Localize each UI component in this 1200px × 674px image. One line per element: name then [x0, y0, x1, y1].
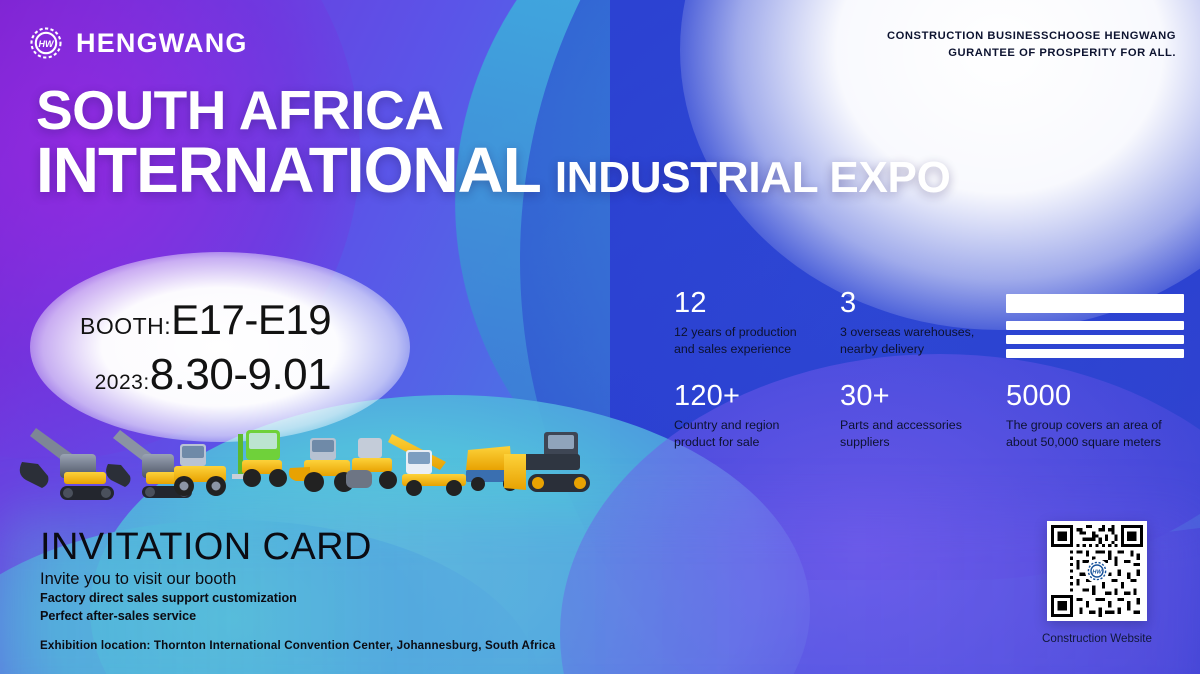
booth-date-row: 2023: 8.30-9.01 [80, 350, 331, 400]
stat-description: 12 years of production and sales experie… [674, 324, 832, 359]
invitation-point-1: Factory direct sales support customizati… [40, 590, 555, 608]
title-international: INTERNATIONAL [36, 138, 541, 202]
stat-desc-line-1: Country and region [674, 418, 779, 432]
title-line-2: INTERNATIONAL INDUSTRIAL EXPO [36, 138, 951, 202]
stat-item: 3 3 overseas warehouses, nearby delivery [840, 288, 1006, 359]
stat-desc-line-2: about 50,000 square meters [1006, 435, 1161, 449]
invitation-title: INVITATION CARD [40, 528, 555, 566]
four-horizontal-bars-icon [1006, 288, 1186, 359]
stat-description: 3 overseas warehouses, nearby delivery [840, 324, 998, 359]
stat-desc-line-1: Parts and accessories [840, 418, 962, 432]
stat-desc-line-2: product for sale [674, 435, 759, 449]
booth-number-row: BOOTH: E17-E19 [80, 296, 331, 344]
bar-thin [1006, 335, 1184, 344]
bar-thin [1006, 349, 1184, 358]
stat-number: 30+ [840, 381, 1006, 412]
hengwang-gear-logo-icon: HW [27, 24, 65, 62]
qr-code-icon[interactable]: HW [1047, 521, 1147, 621]
stat-number: 5000 [1006, 381, 1186, 412]
stat-number: 12 [674, 288, 840, 319]
invitation-block: INVITATION CARD Invite you to visit our … [40, 528, 555, 652]
tagline: CONSTRUCTION BUSINESSCHOOSE HENGWANG GUR… [887, 28, 1176, 63]
invitation-point-2: Perfect after-sales service [40, 608, 555, 626]
bar-thick [1006, 294, 1184, 313]
booth-label: BOOTH: [80, 313, 171, 340]
svg-text:HW: HW [1092, 570, 1102, 576]
stat-item: 12 12 years of production and sales expe… [674, 288, 840, 359]
stat-desc-line-1: 3 overseas warehouses, [840, 325, 974, 339]
qr-section[interactable]: HW Construction Website [1047, 521, 1147, 645]
stat-desc-line-2: nearby delivery [840, 342, 924, 356]
stat-desc-line-1: The group covers an area of [1006, 418, 1162, 432]
stat-item: 5000 The group covers an area of about 5… [1006, 381, 1186, 452]
brand-logo[interactable]: HW HENGWANG [27, 24, 248, 62]
stat-desc-line-2: suppliers [840, 435, 890, 449]
title-line-1: SOUTH AFRICA [36, 84, 951, 138]
stat-description: The group covers an area of about 50,000… [1006, 417, 1184, 452]
stat-item: 30+ Parts and accessories suppliers [840, 381, 1006, 452]
title-industrial-expo: INDUSTRIAL EXPO [555, 156, 951, 200]
stat-desc-line-2: and sales experience [674, 342, 791, 356]
booth-value: E17-E19 [171, 296, 331, 344]
invitation-subtitle: Invite you to visit our booth [40, 570, 555, 590]
stats-grid: 12 12 years of production and sales expe… [674, 288, 1186, 452]
exhibition-location: Exhibition location: Thornton Internatio… [40, 639, 555, 652]
stat-description: Parts and accessories suppliers [840, 417, 998, 452]
booth-year-label: 2023: [95, 371, 150, 395]
stat-item: 120+ Country and region product for sale [674, 381, 840, 452]
booth-info: BOOTH: E17-E19 2023: 8.30-9.01 [80, 296, 331, 400]
svg-text:HW: HW [39, 39, 55, 49]
stat-description: Country and region product for sale [674, 417, 832, 452]
construction-machinery-lineup-icon [14, 410, 614, 520]
expo-invitation-poster: HW HENGWANG CONSTRUCTION BUSINESSCHOOSE … [0, 0, 1200, 674]
tagline-line-2: GURANTEE OF PROSPERITY FOR ALL. [887, 45, 1176, 62]
qr-center-hengwang-logo-icon: HW [1085, 559, 1109, 583]
stat-desc-line-1: 12 years of production [674, 325, 797, 339]
booth-date-value: 8.30-9.01 [150, 350, 331, 400]
stat-number: 3 [840, 288, 1006, 319]
qr-caption: Construction Website [1022, 632, 1172, 645]
stat-number: 120+ [674, 381, 840, 412]
bar-thin [1006, 321, 1184, 330]
tagline-line-1: CONSTRUCTION BUSINESSCHOOSE HENGWANG [887, 28, 1176, 45]
page-title: SOUTH AFRICA INTERNATIONAL INDUSTRIAL EX… [36, 84, 951, 202]
brand-name: HENGWANG [76, 28, 248, 59]
